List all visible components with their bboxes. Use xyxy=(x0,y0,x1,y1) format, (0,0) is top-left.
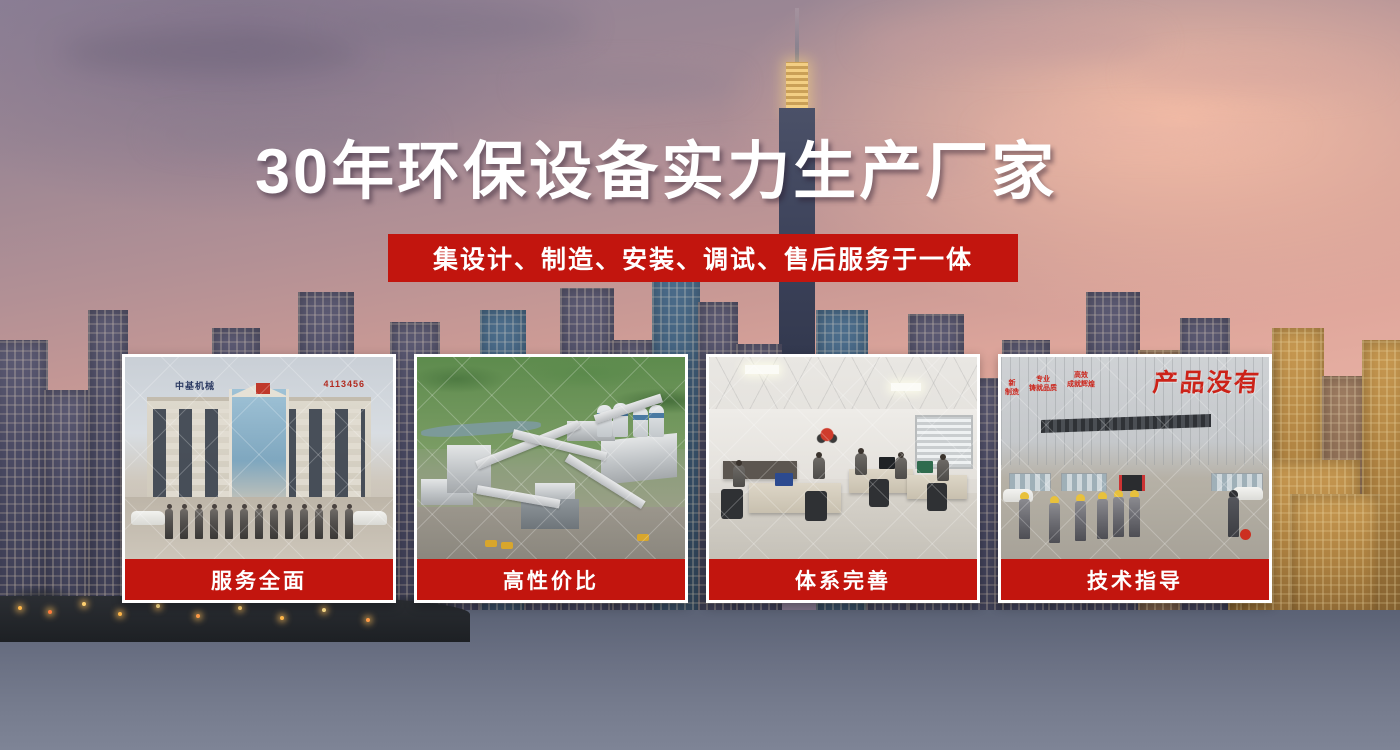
feature-card-list: 中基机械 4113456 服务全面 xyxy=(122,354,1278,603)
feature-card[interactable]: 高性价比 xyxy=(414,354,688,603)
card-caption: 体系完善 xyxy=(709,559,977,600)
factory-sign-text: 产品没有 xyxy=(1151,363,1262,399)
banner-stage: 30年环保设备实力生产厂家 集设计、制造、安装、调试、售后服务于一体 中基机械 … xyxy=(0,0,1400,750)
subtitle-banner: 集设计、制造、安装、调试、售后服务于一体 xyxy=(388,234,1018,282)
feature-card[interactable]: 产品没有 新制造 专业铸就品质 高效成就辉煌 xyxy=(998,354,1272,603)
page-title: 30年环保设备实力生产厂家 xyxy=(255,134,1155,210)
subtitle-text: 集设计、制造、安装、调试、售后服务于一体 xyxy=(433,240,973,276)
feature-card[interactable]: 体系完善 xyxy=(706,354,980,603)
card-caption: 高性价比 xyxy=(417,559,685,600)
card-caption: 服务全面 xyxy=(125,559,393,600)
factory-workers-photo: 产品没有 新制造 专业铸就品质 高效成就辉煌 xyxy=(1001,357,1269,559)
office-interior-photo xyxy=(709,357,977,559)
building-phone-text: 4113456 xyxy=(323,379,365,389)
company-headquarters-photo: 中基机械 4113456 xyxy=(125,357,393,559)
aerial-plant-photo xyxy=(417,357,685,559)
card-caption: 技术指导 xyxy=(1001,559,1269,600)
building-sign-text: 中基机械 xyxy=(175,379,215,392)
feature-card[interactable]: 中基机械 4113456 服务全面 xyxy=(122,354,396,603)
